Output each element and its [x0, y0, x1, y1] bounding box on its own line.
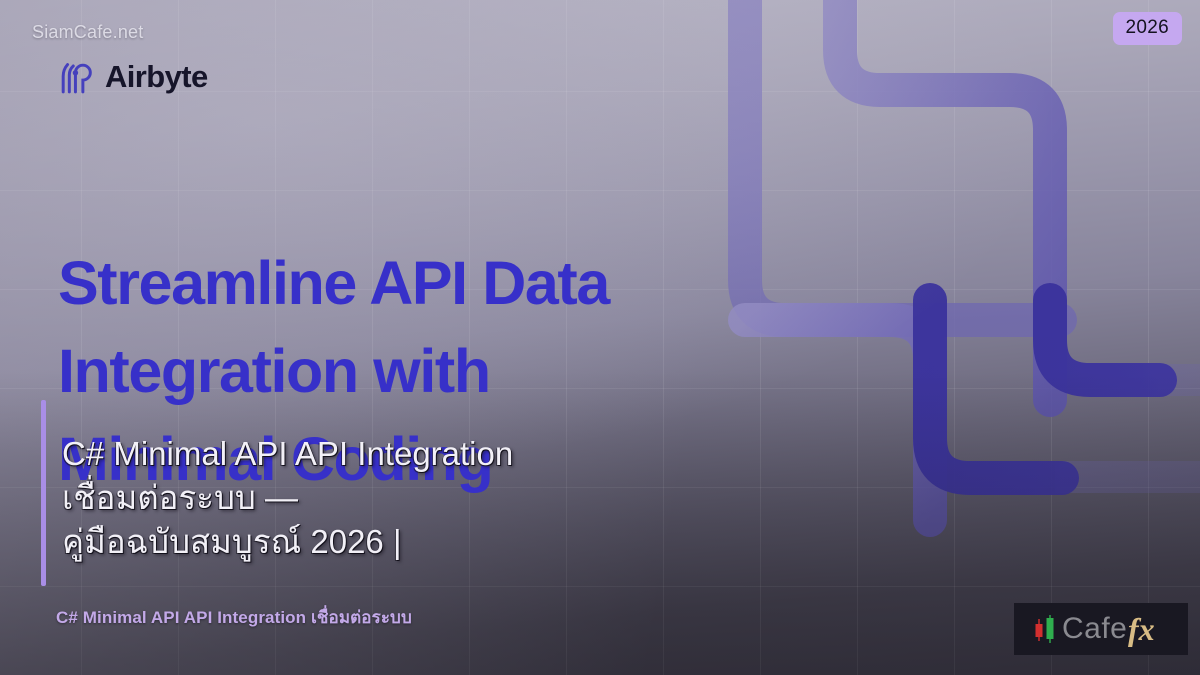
year-badge: 2026 — [1113, 12, 1182, 45]
cafefx-wordmark: Cafe fx — [1062, 609, 1184, 649]
svg-text:Cafe: Cafe — [1062, 612, 1127, 645]
overlay-title: C# Minimal API API Integration เชื่อมต่อ… — [62, 432, 822, 564]
left-accent-bar — [41, 400, 46, 586]
overlay-title-line-2: เชื่อมต่อระบบ — — [62, 476, 822, 520]
subtitle: C# Minimal API API Integration เชื่อมต่อ… — [56, 604, 412, 631]
brand-name: Airbyte — [105, 59, 208, 95]
svg-text:fx: fx — [1128, 611, 1155, 647]
overlay-title-line-3: คู่มือฉบับสมบูรณ์ 2026 | — [62, 520, 822, 564]
candlestick-chart-icon — [1032, 613, 1058, 645]
airbyte-arch-logo-icon — [54, 56, 96, 98]
hero-heading-line-2: Integration with — [58, 328, 758, 416]
brand-lockup: Airbyte — [54, 56, 208, 98]
cafefx-logo: Cafe fx — [1014, 603, 1188, 655]
hero-heading-line-1: Streamline API Data — [58, 240, 758, 328]
site-watermark: SiamCafe.net — [32, 22, 143, 43]
overlay-title-line-1: C# Minimal API API Integration — [62, 432, 822, 476]
hero-banner: SiamCafe.net Airbyte 2026 Streamline API… — [0, 0, 1200, 675]
